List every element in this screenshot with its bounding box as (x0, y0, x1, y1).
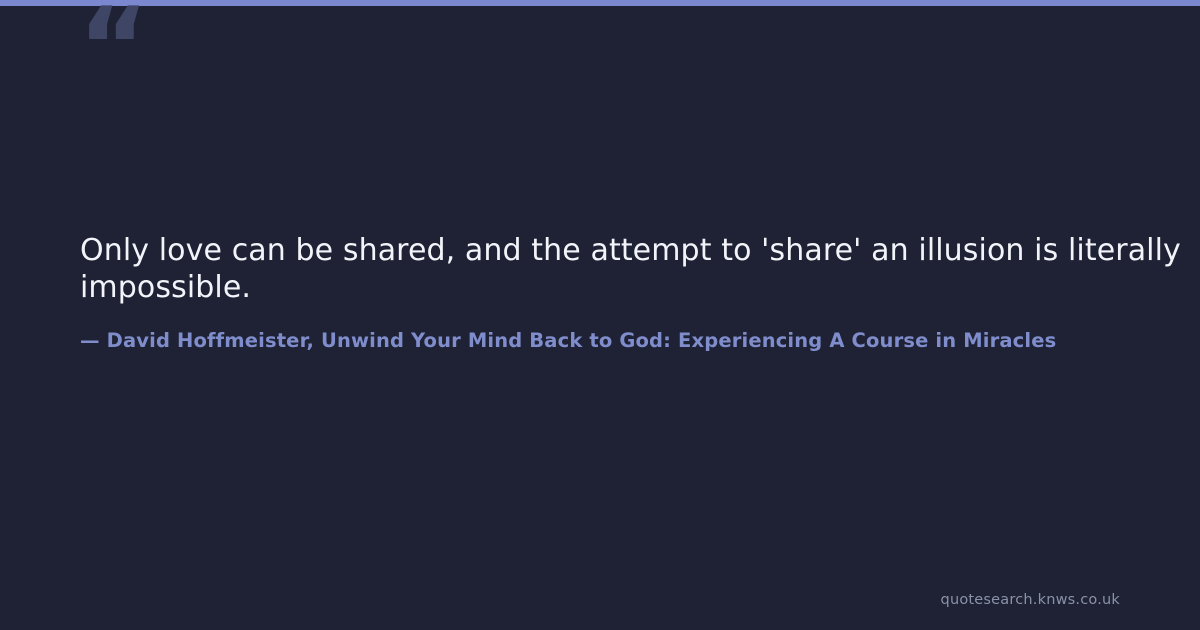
quote-card: “ Only love can be shared, and the attem… (0, 0, 1200, 630)
attribution-em-dash: — (80, 329, 100, 352)
quote-attribution: — David Hoffmeister, Unwind Your Mind Ba… (80, 328, 1200, 354)
decorative-quote-mark-icon: “ (78, 0, 147, 102)
quote-content-block: Only love can be shared, and the attempt… (80, 232, 1200, 354)
top-accent-bar (0, 0, 1200, 6)
quote-text: Only love can be shared, and the attempt… (80, 232, 1200, 306)
site-watermark: quotesearch.knws.co.uk (941, 592, 1120, 608)
attribution-text: David Hoffmeister, Unwind Your Mind Back… (107, 329, 1057, 352)
